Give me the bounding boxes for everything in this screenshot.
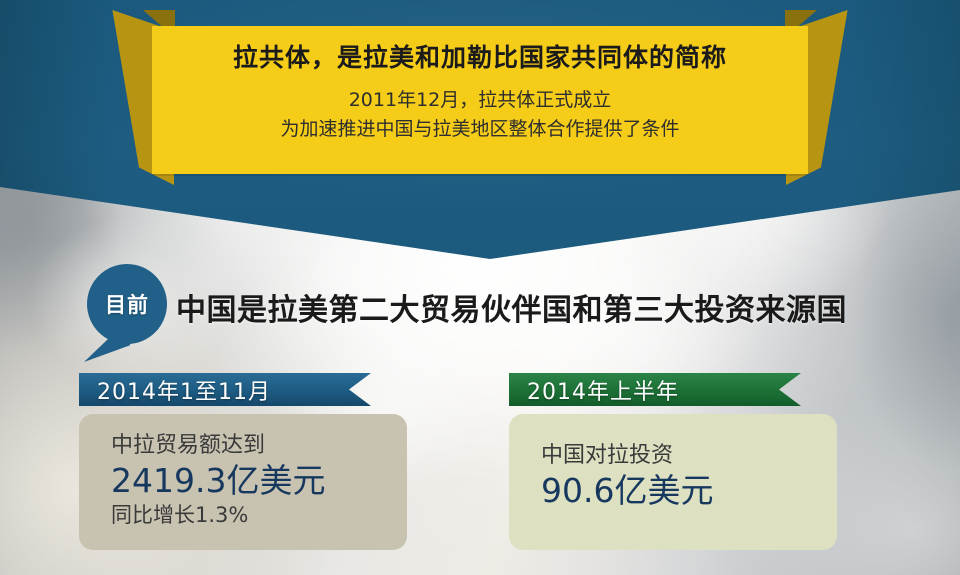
stat-card-trade-ribbon: 2014年1至11月 (79, 373, 349, 406)
banner-subtitle-line-2: 为加速推进中国与拉美地区整体合作提供了条件 (280, 115, 679, 144)
stat-card-investment-caption: 中国对拉投资 (541, 442, 781, 470)
banner-title: 拉共体，是拉美和加勒比国家共同体的简称 (233, 43, 727, 73)
badge-current-status: 目前 (87, 264, 167, 344)
infographic-canvas: 拉共体，是拉美和加勒比国家共同体的简称 2011年12月，拉共体正式成立 为加速… (0, 0, 960, 575)
banner-subtitle: 2011年12月，拉共体正式成立 为加速推进中国与拉美地区整体合作提供了条件 (280, 86, 679, 145)
section-headline: 中国是拉美第二大贸易伙伴国和第三大投资来源国 (176, 285, 847, 329)
banner-subtitle-line-1: 2011年12月，拉共体正式成立 (280, 86, 679, 115)
stat-card-trade-body: 中拉贸易额达到 2419.3亿美元 同比增长1.3% (79, 414, 407, 550)
stat-card-investment: 2014年上半年 中国对拉投资 90.6亿美元 (498, 373, 870, 559)
stat-card-trade-value: 2419.3亿美元 (111, 460, 351, 503)
stat-card-investment-ribbon-notch (779, 373, 801, 406)
stat-card-trade-caption: 中拉贸易额达到 (111, 432, 351, 460)
stat-card-trade-text: 中拉贸易额达到 2419.3亿美元 同比增长1.3% (111, 432, 351, 529)
stat-card-investment-period: 2014年上半年 (527, 374, 679, 406)
stat-card-investment-value: 90.6亿美元 (541, 470, 781, 513)
stat-card-trade: 2014年1至11月 中拉贸易额达到 2419.3亿美元 同比增长1.3% (68, 373, 440, 559)
stat-card-investment-body: 中国对拉投资 90.6亿美元 (509, 414, 837, 550)
badge-label: 目前 (105, 289, 149, 319)
stat-card-investment-ribbon: 2014年上半年 (509, 373, 779, 406)
stat-card-investment-text: 中国对拉投资 90.6亿美元 (541, 442, 781, 512)
stat-card-trade-growth: 同比增长1.3% (111, 502, 351, 528)
stat-card-trade-ribbon-notch (349, 373, 371, 406)
stat-card-trade-period: 2014年1至11月 (97, 374, 271, 406)
title-banner: 拉共体，是拉美和加勒比国家共同体的简称 2011年12月，拉共体正式成立 为加速… (152, 26, 808, 174)
